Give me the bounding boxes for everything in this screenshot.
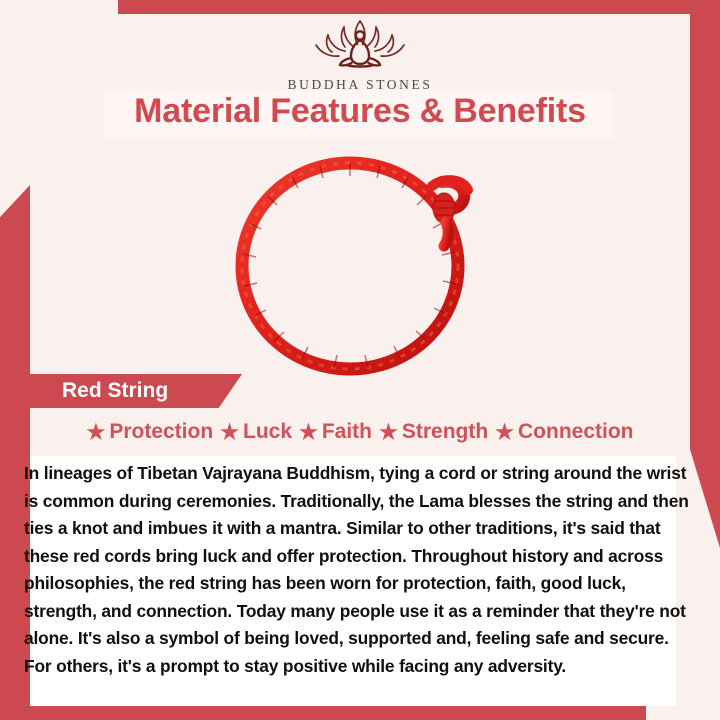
page-title: Material Features & Benefits — [0, 92, 720, 131]
benefit-item: ★ Connection — [495, 420, 633, 444]
benefit-item: ★ Luck — [220, 420, 292, 444]
infographic-card: BUDDHA STONES Material Features & Benefi… — [0, 0, 720, 720]
product-name-label: Red String — [62, 379, 168, 403]
benefit-label: Protection — [109, 420, 213, 444]
benefit-item: ★ Strength — [379, 420, 488, 444]
frame-band-top — [118, 0, 720, 14]
benefit-item: ★ Faith — [299, 420, 372, 444]
description-text: In lineages of Tibetan Vajrayana Buddhis… — [24, 460, 690, 680]
star-icon: ★ — [220, 422, 239, 443]
product-image — [30, 146, 690, 378]
frame-band-bottom — [0, 706, 646, 720]
star-icon: ★ — [87, 422, 106, 443]
benefit-item: ★ Protection — [87, 420, 214, 444]
brand-logo: BUDDHA STONES — [0, 14, 720, 93]
benefit-label: Faith — [322, 420, 372, 444]
star-icon: ★ — [299, 422, 318, 443]
benefit-label: Strength — [402, 420, 488, 444]
benefit-label: Connection — [518, 420, 634, 444]
benefits-row: ★ Protection ★ Luck ★ Faith ★ Strength ★… — [30, 420, 690, 444]
star-icon: ★ — [379, 422, 398, 443]
red-braided-string-bracelet-icon — [220, 146, 500, 378]
benefit-label: Luck — [243, 420, 292, 444]
star-icon: ★ — [495, 422, 514, 443]
lotus-meditation-icon — [0, 18, 720, 75]
